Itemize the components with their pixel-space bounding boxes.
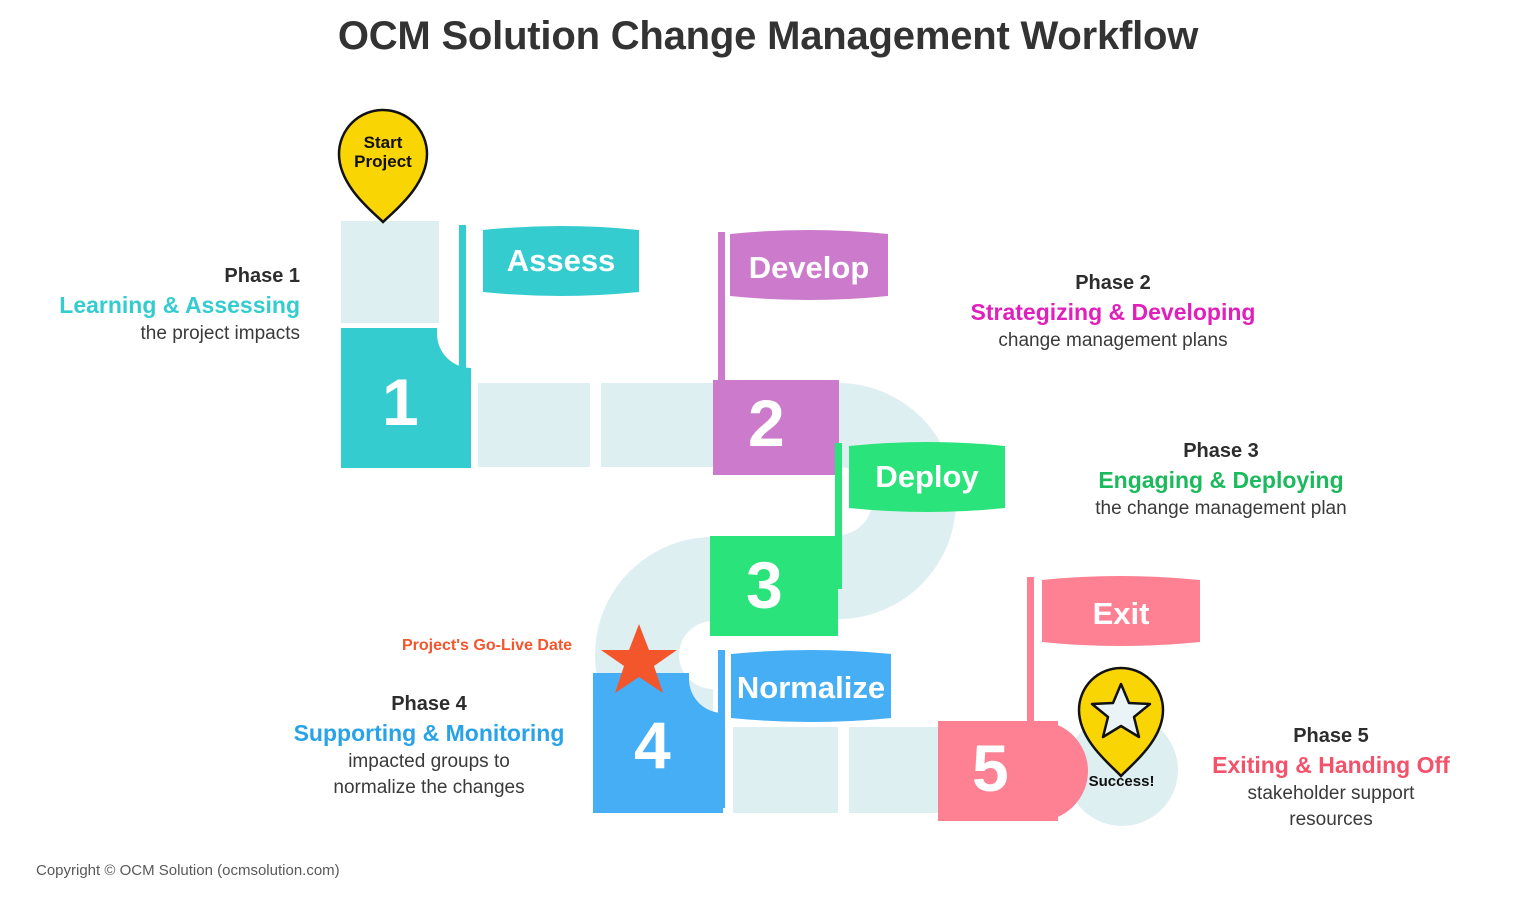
phase-3-block: Phase 3 Engaging & Deploying the change …	[1036, 438, 1406, 522]
phase-4-block: Phase 4 Supporting & Monitoring impacted…	[257, 691, 601, 800]
pole-assess	[459, 225, 466, 375]
pole-deploy	[835, 443, 842, 589]
pole-exit	[1027, 577, 1034, 729]
phase-2-number: Phase 2	[913, 270, 1313, 297]
start-pin-icon	[339, 110, 427, 222]
phase-5-number: Phase 5	[1159, 723, 1503, 750]
step-3-shape	[710, 536, 838, 636]
phase-3-title: Engaging & Deploying	[1036, 465, 1406, 496]
step-5-cap	[1018, 721, 1088, 821]
phase-3-subtitle: the change management plan	[1036, 496, 1406, 522]
phase-2-subtitle: change management plans	[913, 328, 1313, 354]
flag-deploy-label: Deploy	[849, 447, 1005, 507]
flag-exit-label: Exit	[1042, 584, 1200, 644]
flag-develop[interactable]: Develop	[730, 238, 888, 298]
step-2-shape	[713, 380, 839, 475]
phase-1-title: Learning & Assessing	[0, 290, 300, 321]
flag-normalize[interactable]: Normalize	[731, 657, 891, 719]
phase-3-number: Phase 3	[1036, 438, 1406, 465]
phase-4-subtitle-line1: impacted groups to	[257, 749, 601, 775]
phase-4-number: Phase 4	[257, 691, 601, 718]
workflow-diagram: OCM Solution Change Management Workflow	[0, 0, 1536, 899]
flag-assess-label: Assess	[483, 230, 639, 292]
phase-4-subtitle-line2: normalize the changes	[257, 775, 601, 801]
flag-develop-label: Develop	[730, 238, 888, 298]
pole-normalize	[718, 650, 725, 808]
phase-5-block: Phase 5 Exiting & Handing Off stakeholde…	[1159, 723, 1503, 832]
phase-2-title: Strategizing & Developing	[913, 297, 1313, 328]
phase-1-number: Phase 1	[0, 263, 300, 290]
phase-2-block: Phase 2 Strategizing & Developing change…	[913, 270, 1313, 354]
flag-deploy[interactable]: Deploy	[849, 447, 1005, 507]
pole-develop	[718, 232, 725, 384]
golive-label: Project's Go-Live Date	[402, 637, 572, 655]
phase-1-block: Phase 1 Learning & Assessing the project…	[0, 263, 300, 347]
flag-normalize-label: Normalize	[731, 657, 891, 719]
phase-4-title: Supporting & Monitoring	[257, 718, 601, 749]
phase-1-subtitle: the project impacts	[0, 321, 300, 347]
phase-5-subtitle-line2: resources	[1159, 807, 1503, 833]
phase-5-title: Exiting & Handing Off	[1159, 750, 1503, 781]
phase-5-subtitle-line1: stakeholder support	[1159, 781, 1503, 807]
copyright-text: Copyright © OCM Solution (ocmsolution.co…	[36, 862, 340, 879]
flag-assess[interactable]: Assess	[483, 230, 639, 292]
flag-exit[interactable]: Exit	[1042, 584, 1200, 644]
